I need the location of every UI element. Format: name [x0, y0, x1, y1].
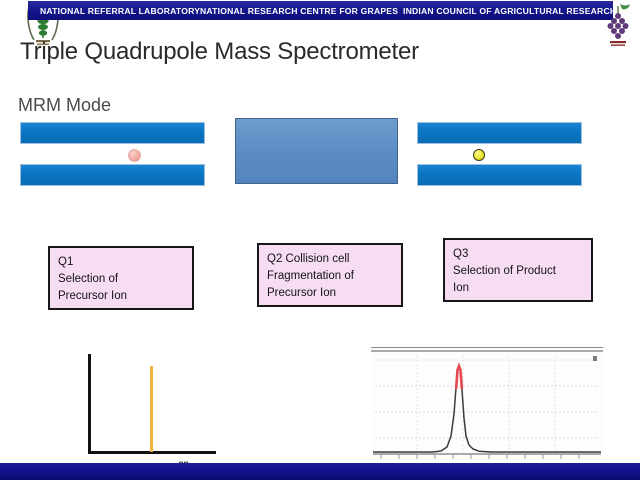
- band-label-nrcg: NATIONAL RESEARCH CENTRE FOR GRAPES: [200, 6, 398, 16]
- header-bar: NATIONAL REFERRAL LABORATORY NATIONAL RE…: [0, 0, 640, 26]
- q1-box-line-2: Selection of: [58, 271, 184, 288]
- q1-description-box: Q1 Selection of Precursor Ion: [48, 246, 194, 310]
- q3-ion-path: [417, 144, 582, 164]
- product-ion-dot: [473, 149, 485, 161]
- q3-lower-rod: [417, 164, 582, 186]
- q3-box-line-2: Selection of Product: [453, 263, 583, 280]
- grape-cluster-emblem-icon: [600, 0, 636, 48]
- transition-peak-bar: [150, 366, 153, 452]
- band-label-icar: INDIAN COUNCIL OF AGRICULTURAL RESEARCH: [403, 6, 616, 16]
- section-subtitle: MRM Mode: [18, 95, 111, 116]
- q2-description-box: Q2 Collision cell Fragmentation of Precu…: [257, 243, 403, 307]
- q3-description-box: Q3 Selection of Product Ion: [443, 238, 593, 302]
- q3-box-line-3: Ion: [453, 280, 583, 297]
- q1-upper-rod: [20, 122, 205, 144]
- chromatogram-plot: [371, 348, 603, 465]
- footer-bar: [0, 463, 640, 480]
- q1-ion-path: [20, 144, 205, 164]
- q1-quadrupole-graphic: [20, 122, 205, 186]
- q1-box-line-1: Q1: [58, 254, 184, 271]
- chart-y-axis: [88, 354, 91, 452]
- q3-upper-rod: [417, 122, 582, 144]
- q2-box-line-1: Q2 Collision cell: [267, 251, 393, 268]
- q1-box-line-3: Precursor Ion: [58, 288, 184, 305]
- q1-lower-rod: [20, 164, 205, 186]
- band-label-nrl: NATIONAL REFERRAL LABORATORY: [40, 6, 200, 16]
- chromatogram-chart: [371, 347, 603, 465]
- page-title: Triple Quadrupole Mass Spectrometer: [20, 38, 419, 66]
- q3-box-line-1: Q3: [453, 246, 583, 263]
- q3-quadrupole-graphic: [417, 122, 582, 186]
- transition-spectrum-chart: Q1 → Q3 Transition: [62, 348, 227, 466]
- header-band: NATIONAL REFERRAL LABORATORY NATIONAL RE…: [28, 1, 613, 20]
- q2-box-line-3: Precursor Ion: [267, 285, 393, 302]
- q2-box-line-2: Fragmentation of: [267, 268, 393, 285]
- q2-collision-cell-graphic: [235, 118, 398, 184]
- precursor-ion-dot: [128, 149, 141, 162]
